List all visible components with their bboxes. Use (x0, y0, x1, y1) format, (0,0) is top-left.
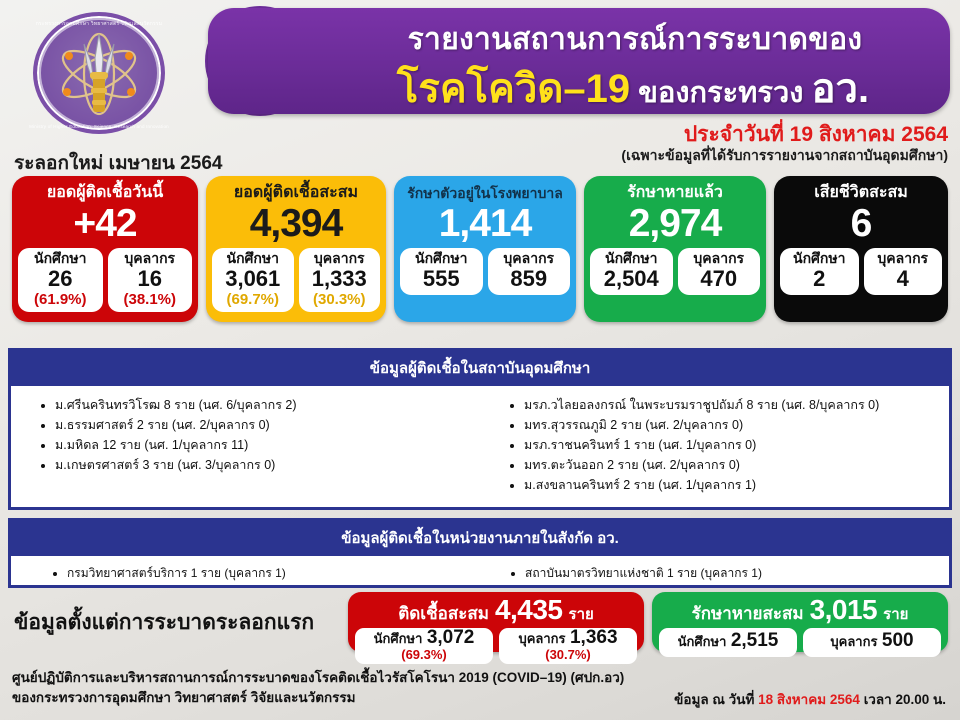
logo-text-thai: กระทรวงการอุดมศึกษา วิทยาศาสตร์ วิจัยและ… (25, 20, 173, 28)
staff-line: บุคลากร 1,363 (501, 628, 635, 648)
staff-value: 859 (490, 267, 569, 291)
student-value: 2,515 (731, 630, 779, 651)
student-label: นักศึกษา (214, 250, 292, 267)
student-label: นักศึกษา (592, 250, 671, 267)
as-of-date: 18 สิงหาคม 2564 (758, 692, 860, 707)
summary-unit: ราย (883, 602, 908, 626)
bottom-summary: ข้อมูลตั้งแต่การระบาดระลอกแรก ติดเชื้อสะ… (0, 592, 960, 654)
staff-label: บุคลากร (866, 250, 941, 267)
header: กระทรวงการอุดมศึกษา วิทยาศาสตร์ วิจัยและ… (0, 0, 960, 120)
footer-line-1: ศูนย์ปฏิบัติการและบริหารสถานการณ์การระบา… (12, 666, 624, 688)
stat-card-deaths: เสียชีวิตสะสม 6 นักศึกษา 2 บุคลากร 4 (774, 176, 948, 322)
wave-label: ระลอกใหม่ เมษายน 2564 (14, 148, 222, 178)
card-title: เสียชีวิตสะสม (780, 183, 942, 203)
panel-column-left: กรมวิทยาศาสตร์บริการ 1 ราย (บุคลากร 1) (11, 564, 491, 584)
stat-card-recovered: รักษาหายแล้ว 2,974 นักศึกษา 2,504 บุคลาก… (584, 176, 766, 322)
panel-heading: ข้อมูลผู้ติดเชื้อในสถาบันอุดมศึกษา (11, 351, 949, 386)
student-label: นักศึกษา (402, 250, 481, 267)
summary-value: 4,435 (495, 594, 563, 626)
staff-label: บุคลากร (490, 250, 569, 267)
staff-label: บุคลากร (680, 250, 759, 267)
staff-label: บุคลากร (301, 250, 379, 267)
breakdown-student: นักศึกษา 26 (61.9%) (18, 248, 103, 312)
list-item: สถาบันมาตรวิทยาแห่งชาติ 1 ราย (บุคลากร 1… (525, 564, 941, 583)
breakdown-student: นักศึกษา 2 (780, 248, 859, 295)
stat-card-row: ยอดผู้ติดเชื้อวันนี้ +42 นักศึกษา 26 (61… (0, 176, 960, 322)
report-date-note: (เฉพาะข้อมูลที่ได้รับการรายงานจากสถาบันอ… (388, 145, 948, 167)
student-value: 2 (782, 267, 857, 291)
panel-higher-education: ข้อมูลผู้ติดเชื้อในสถาบันอุดมศึกษา ม.ศรี… (8, 348, 952, 510)
student-value: 2,504 (592, 267, 671, 291)
panel-column-right: มรภ.วไลยอลงกรณ์ ในพระบรมราชูปถัมภ์ 8 ราย… (480, 396, 949, 496)
card-title: ยอดผู้ติดเชื้อวันนี้ (18, 183, 192, 203)
staff-label: บุคลากร (110, 250, 191, 267)
panel-body: ม.ศรีนครินทรวิโรฒ 8 ราย (นศ. 6/บุคลากร 2… (11, 386, 949, 504)
list-item: ม.เกษตรศาสตร์ 3 ราย (นศ. 3/บุคลากร 0) (55, 456, 472, 475)
card-title: รักษาหายแล้ว (590, 183, 760, 203)
student-value: 3,072 (427, 627, 475, 648)
breakdown-student: นักศึกษา 2,504 (590, 248, 673, 295)
list-item: กรมวิทยาศาสตร์บริการ 1 ราย (บุคลากร 1) (67, 564, 483, 583)
student-label: นักศึกษา (374, 631, 423, 646)
panel-body: กรมวิทยาศาสตร์บริการ 1 ราย (บุคลากร 1) ส… (11, 556, 949, 590)
card-value: +42 (18, 203, 192, 245)
student-line: นักศึกษา 3,072 (357, 628, 491, 648)
title-disease-name: โรคโควิด–19 (397, 67, 630, 111)
as-of-time: เวลา 20.00 น. (860, 692, 946, 707)
summary-label: ติดเชื้อสะสม (398, 600, 489, 627)
card-breakdown: นักศึกษา 555 บุคลากร 859 (400, 248, 570, 295)
panel-ministry-agencies: ข้อมูลผู้ติดเชื้อในหน่วยงานภายในสังกัด อ… (8, 518, 952, 588)
panel-column-left: ม.ศรีนครินทรวิโรฒ 8 ราย (นศ. 6/บุคลากร 2… (11, 396, 480, 496)
agency-list-left: กรมวิทยาศาสตร์บริการ 1 ราย (บุคลากร 1) (53, 564, 483, 583)
list-item: ม.ศรีนครินทรวิโรฒ 8 ราย (นศ. 6/บุคลากร 2… (55, 396, 472, 415)
card-breakdown: นักศึกษา 2 บุคลากร 4 (780, 248, 942, 295)
card-title: รักษาตัวอยู่ในโรงพยาบาล (400, 183, 570, 203)
student-percent: (61.9%) (20, 291, 101, 308)
agency-list-right: สถาบันมาตรวิทยาแห่งชาติ 1 ราย (บุคลากร 1… (511, 564, 941, 583)
breakdown-staff: บุคลากร 470 (678, 248, 761, 295)
staff-label: บุคลากร (830, 634, 877, 649)
student-line: นักศึกษา 2,515 (661, 628, 795, 655)
staff-value: 470 (680, 267, 759, 291)
infographic-root: กระทรวงการอุดมศึกษา วิทยาศาสตร์ วิจัยและ… (0, 0, 960, 720)
breakdown-student: นักศึกษา 2,515 (659, 628, 797, 657)
breakdown-staff: บุคลากร 859 (488, 248, 571, 295)
bottom-summary-label: ข้อมูลตั้งแต่การระบาดระลอกแรก (14, 606, 314, 639)
atom-trident-icon (51, 28, 147, 120)
title-of-ministry: ของกระทรวง (630, 77, 811, 109)
card-value: 4,394 (212, 203, 380, 245)
footer-as-of: ข้อมูล ณ วันที่ 18 สิงหาคม 2564 เวลา 20.… (674, 688, 946, 710)
stat-card-today: ยอดผู้ติดเชื้อวันนี้ +42 นักศึกษา 26 (61… (12, 176, 198, 322)
card-breakdown: นักศึกษา 26 (61.9%) บุคลากร 16 (38.1%) (18, 248, 192, 312)
staff-value: 16 (110, 267, 191, 291)
card-breakdown: นักศึกษา 3,061 (69.7%) บุคลากร 1,333 (30… (212, 248, 380, 312)
summary-headline: ติดเชื้อสะสม 4,435 ราย (355, 594, 637, 627)
list-item: ม.ธรรมศาสตร์ 2 ราย (นศ. 2/บุคลากร 0) (55, 416, 472, 435)
student-value: 555 (402, 267, 481, 291)
title-ministry-abbr: อว. (811, 67, 869, 111)
list-item: มทร.ตะวันออก 2 ราย (นศ. 2/บุคลากร 0) (524, 456, 941, 475)
summary-unit: ราย (569, 602, 594, 626)
institution-list-right: มรภ.วไลยอลงกรณ์ ในพระบรมราชูปถัมภ์ 8 ราย… (510, 396, 941, 495)
staff-value: 1,363 (570, 627, 618, 648)
list-item: ม.มหิดล 12 ราย (นศ. 1/บุคลากร 11) (55, 436, 472, 455)
breakdown-staff: บุคลากร 4 (864, 248, 943, 295)
summary-breakdown: นักศึกษา 2,515 บุคลากร 500 (659, 628, 941, 657)
title-line-2: โรคโควิด–19 ของกระทรวง อว. (318, 56, 948, 120)
stat-card-hospitalized: รักษาตัวอยู่ในโรงพยาบาล 1,414 นักศึกษา 5… (394, 176, 576, 322)
breakdown-student: นักศึกษา 555 (400, 248, 483, 295)
breakdown-staff: บุคลากร 500 (803, 628, 941, 657)
staff-percent: (30.3%) (301, 291, 379, 308)
student-value: 26 (20, 267, 101, 291)
summary-card-infected: ติดเชื้อสะสม 4,435 ราย นักศึกษา 3,072 (6… (348, 592, 644, 652)
card-value: 1,414 (400, 203, 570, 245)
staff-value: 4 (866, 267, 941, 291)
list-item: มทร.สุวรรณภูมิ 2 ราย (นศ. 2/บุคลากร 0) (524, 416, 941, 435)
summary-headline: รักษาหายสะสม 3,015 ราย (659, 594, 941, 627)
ministry-logo: กระทรวงการอุดมศึกษา วิทยาศาสตร์ วิจัยและ… (25, 8, 173, 138)
breakdown-student: นักศึกษา 3,061 (69.7%) (212, 248, 294, 312)
staff-line: บุคลากร 500 (805, 628, 939, 655)
stat-card-cumulative: ยอดผู้ติดเชื้อสะสม 4,394 นักศึกษา 3,061 … (206, 176, 386, 322)
list-item: มรภ.วไลยอลงกรณ์ ในพระบรมราชูปถัมภ์ 8 ราย… (524, 396, 941, 415)
panel-column-right: สถาบันมาตรวิทยาแห่งชาติ 1 ราย (บุคลากร 1… (491, 564, 949, 584)
summary-value: 3,015 (810, 594, 878, 626)
card-value: 6 (780, 203, 942, 245)
student-label: นักศึกษา (678, 634, 727, 649)
footer-line-2: ของกระทรวงการอุดมศึกษา วิทยาศาสตร์ วิจัย… (12, 686, 356, 708)
card-title: ยอดผู้ติดเชื้อสะสม (212, 183, 380, 203)
panel-heading: ข้อมูลผู้ติดเชื้อในหน่วยงานภายในสังกัด อ… (11, 521, 949, 556)
staff-percent: (38.1%) (110, 291, 191, 308)
staff-label: บุคลากร (518, 631, 565, 646)
student-label: นักศึกษา (20, 250, 101, 267)
student-percent: (69.7%) (214, 291, 292, 308)
list-item: มรภ.ราชนครินทร์ 1 ราย (นศ. 1/บุคลากร 0) (524, 436, 941, 455)
list-item: ม.สงขลานครินทร์ 2 ราย (นศ. 1/บุคลากร 1) (524, 476, 941, 495)
as-of-prefix: ข้อมูล ณ วันที่ (674, 692, 758, 707)
card-value: 2,974 (590, 203, 760, 245)
student-label: นักศึกษา (782, 250, 857, 267)
student-value: 3,061 (214, 267, 292, 291)
staff-value: 500 (882, 630, 914, 651)
breakdown-staff: บุคลากร 16 (38.1%) (108, 248, 193, 312)
card-breakdown: นักศึกษา 2,504 บุคลากร 470 (590, 248, 760, 295)
breakdown-staff: บุคลากร 1,333 (30.3%) (299, 248, 381, 312)
logo-text-english: Ministry of Higher Education, Science, R… (25, 124, 173, 129)
institution-list-left: ม.ศรีนครินทรวิโรฒ 8 ราย (นศ. 6/บุคลากร 2… (41, 396, 472, 475)
footer: ศูนย์ปฏิบัติการและบริหารสถานการณ์การระบา… (0, 658, 960, 720)
staff-value: 1,333 (301, 267, 379, 291)
summary-label: รักษาหายสะสม (692, 600, 804, 627)
summary-card-recovered: รักษาหายสะสม 3,015 ราย นักศึกษา 2,515 บุ… (652, 592, 948, 652)
